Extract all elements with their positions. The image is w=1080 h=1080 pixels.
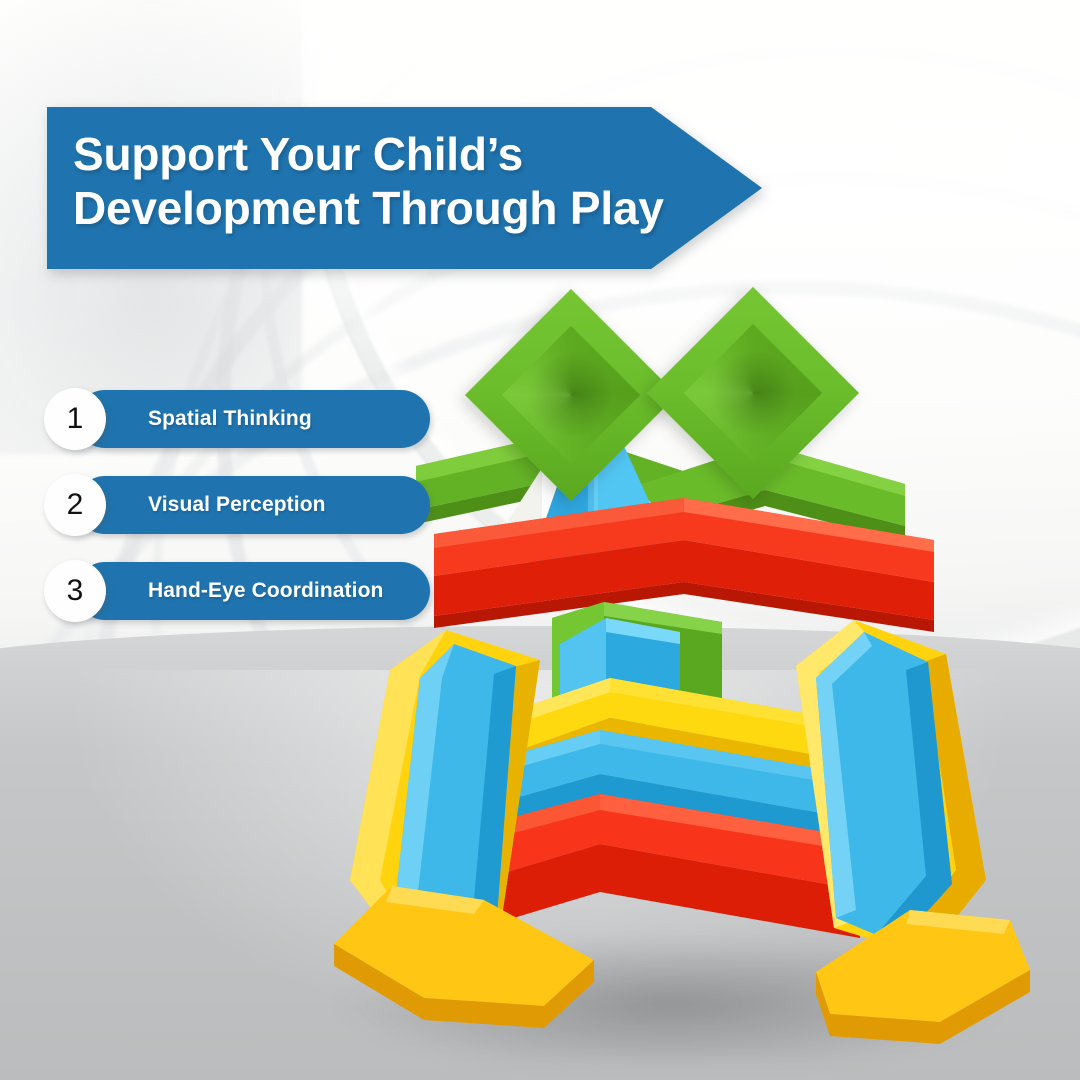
yellow-foot-right (760, 900, 1030, 1050)
banner-headline-line1: Support Your Child’s (73, 127, 693, 181)
benefit-item-1[interactable]: Spatial Thinking 1 (44, 388, 444, 450)
benefit-item-3[interactable]: Hand-Eye Coordination 3 (44, 560, 444, 622)
benefit-label-2: Visual Perception (148, 474, 326, 536)
benefit-item-2[interactable]: Visual Perception 2 (44, 474, 444, 536)
benefit-number-2: 2 (44, 474, 106, 536)
benefit-label-1: Spatial Thinking (148, 388, 312, 450)
benefit-number-1: 1 (44, 388, 106, 450)
headline-banner: Support Your Child’s Development Through… (47, 107, 762, 269)
benefit-number-3: 3 (44, 560, 106, 622)
benefits-list: Spatial Thinking 1 Visual Perception 2 H… (44, 388, 444, 646)
banner-headline: Support Your Child’s Development Through… (73, 127, 693, 236)
banner-headline-line2: Development Through Play (73, 181, 693, 235)
benefit-label-3: Hand-Eye Coordination (148, 560, 383, 622)
poster-canvas: Support Your Child’s Development Through… (0, 0, 1080, 1080)
yellow-foot-left (334, 886, 594, 1036)
